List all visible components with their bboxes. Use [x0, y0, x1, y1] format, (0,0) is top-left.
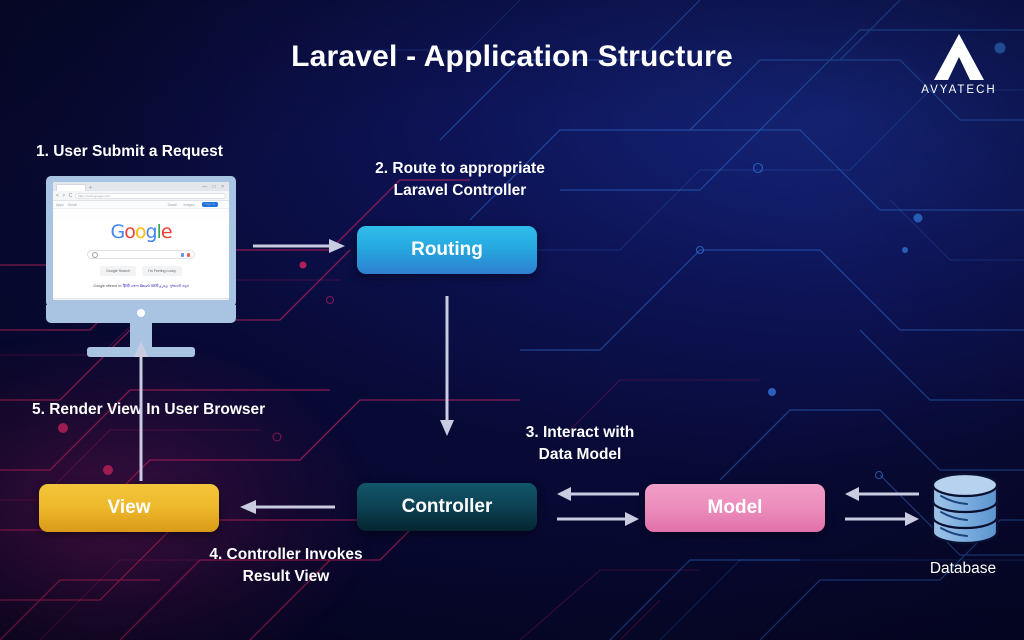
browser-tabstrip: + — □ × [53, 182, 229, 191]
language-note: Google offered in: हिन्दी বাংলা తెలుగు म… [53, 283, 229, 290]
lambda-chevron-icon [926, 32, 992, 82]
window-controls[interactable]: — □ × [202, 184, 226, 190]
google-buttons: Google Search I'm Feeling Lucky [53, 266, 229, 276]
google-logo: Google [53, 221, 229, 243]
logo-wordmark: AVYATECH [915, 84, 1003, 96]
arrow-view-to-browser [131, 341, 151, 481]
link-gmail[interactable]: Gmail [168, 203, 177, 207]
node-routing-label: Routing [411, 239, 483, 261]
page-title: Laravel - Application Structure [0, 40, 1024, 74]
search-icon [92, 252, 98, 258]
monitor-power-dot [137, 309, 145, 317]
step-2-line-1: 2. Route to appropriate [355, 158, 565, 180]
new-tab-icon[interactable]: + [89, 185, 95, 191]
diagram-canvas: Laravel - Application Structure AVYATECH… [0, 0, 1024, 640]
node-model[interactable]: Model [645, 484, 825, 532]
bookmark-apps[interactable]: Apps [56, 203, 64, 207]
arrow-model-database-pair [845, 485, 919, 531]
avyatech-logo: AVYATECH [915, 32, 1003, 96]
browser-tab[interactable] [56, 184, 86, 191]
nav-controls[interactable]: < > C [56, 193, 73, 199]
step-2-caption: 2. Route to appropriate Laravel Controll… [355, 158, 565, 202]
monitor-screen: + — □ × < > C https://www.google.com App… [53, 182, 229, 300]
step-4-caption: 4. Controller Invokes Result View [186, 544, 386, 588]
node-database-label: Database [898, 560, 1024, 578]
bookmarks-bar: Apps Gmail Gmail Images Sign in [53, 201, 229, 209]
address-input[interactable]: https://www.google.com [75, 193, 226, 199]
database-cylinder-icon [925, 468, 1005, 553]
google-footer: India Advertising Business How Search wo… [53, 298, 229, 300]
google-homepage: Google Google Search I'm Feeling Lucky G… [53, 221, 229, 300]
node-view-label: View [108, 497, 151, 519]
node-routing[interactable]: Routing [357, 226, 537, 274]
link-images[interactable]: Images [184, 203, 195, 207]
node-view[interactable]: View [39, 484, 219, 532]
google-search-button[interactable]: Google Search [100, 266, 136, 276]
step-1-caption: 1. User Submit a Request [36, 141, 223, 163]
footer-region: India [53, 299, 229, 300]
arrow-browser-to-routing [253, 236, 345, 256]
step-3-line-1: 3. Interact with [505, 422, 655, 444]
account-area: Gmail Images Sign in [168, 202, 222, 207]
step-3-caption: 3. Interact with Data Model [505, 422, 655, 466]
step-3-line-2: Data Model [505, 444, 655, 466]
google-search-input[interactable] [87, 250, 195, 259]
voice-lens-icons[interactable] [181, 253, 190, 257]
sign-in-button[interactable]: Sign in [202, 202, 218, 207]
node-controller[interactable]: Controller [357, 483, 537, 531]
node-model-label: Model [708, 497, 763, 519]
language-note-prefix: Google offered in: [93, 284, 122, 288]
browser-urlbar: < > C https://www.google.com [53, 191, 229, 201]
feeling-lucky-button[interactable]: I'm Feeling Lucky [142, 266, 182, 276]
bookmark-gmail[interactable]: Gmail [68, 203, 77, 207]
node-controller-label: Controller [402, 496, 493, 518]
monitor-frame: + — □ × < > C https://www.google.com App… [46, 176, 236, 307]
address-value: https://www.google.com [78, 194, 110, 198]
step-4-line-1: 4. Controller Invokes [186, 544, 386, 566]
user-browser-monitor: + — □ × < > C https://www.google.com App… [46, 176, 236, 357]
step-4-line-2: Result View [186, 566, 386, 588]
language-note-links[interactable]: हिन्दी বাংলা తెలుగు मराठी தமிழ் ગુજરાતી … [123, 284, 189, 288]
arrow-controller-to-view [240, 497, 335, 517]
monitor-chin [46, 305, 236, 323]
arrow-routing-to-controller [437, 296, 457, 436]
arrow-controller-model-pair [557, 485, 639, 531]
step-2-line-2: Laravel Controller [355, 180, 565, 202]
